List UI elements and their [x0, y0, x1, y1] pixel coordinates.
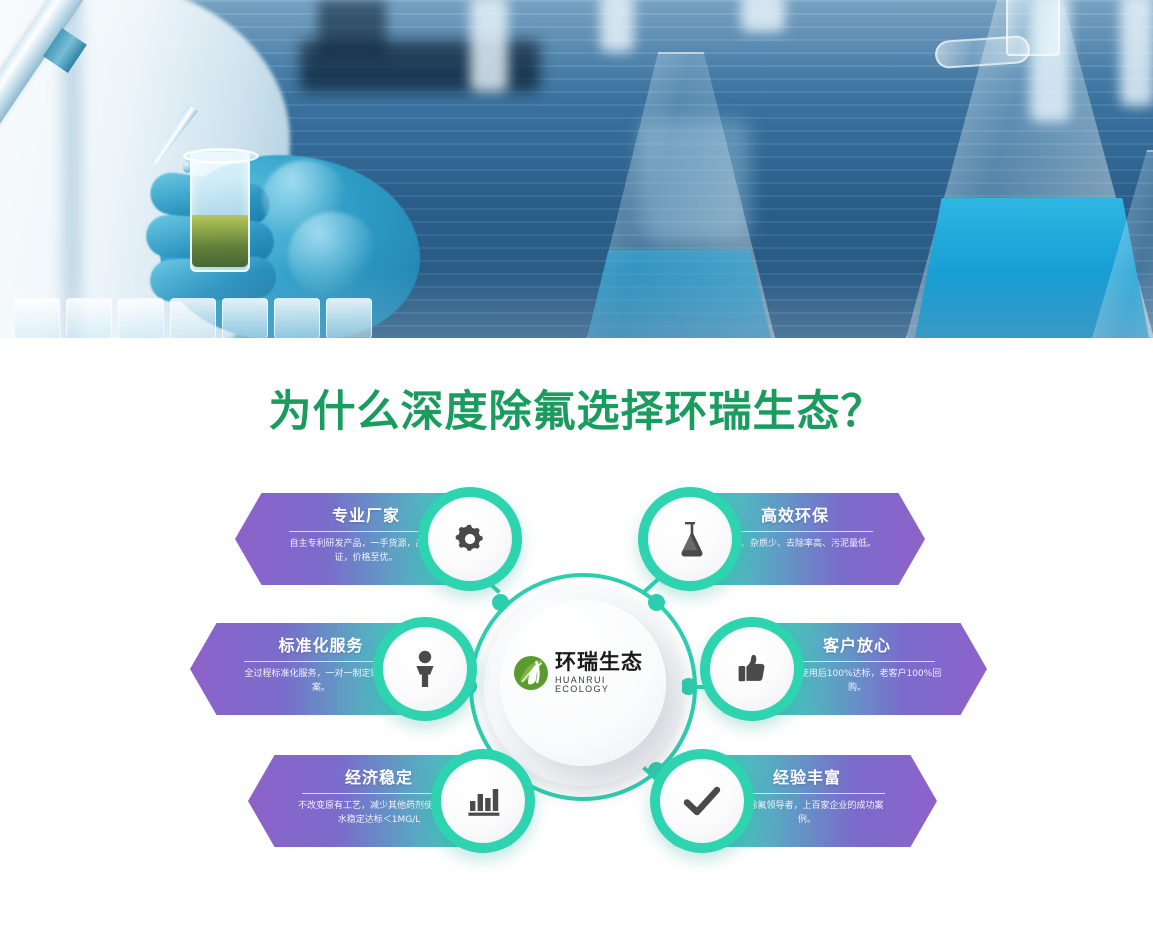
- logo-name-cn: 环瑞生态: [555, 652, 654, 673]
- card-icon-badge: [650, 749, 754, 853]
- gear-icon: [428, 497, 512, 581]
- background-light-panel: [600, 0, 634, 52]
- benefit-card-professional-manufacturer[interactable]: 专业厂家 自主专利研发产品，一手货源，品质保证，价格至优。: [235, 493, 500, 585]
- hero-banner: [0, 0, 1153, 338]
- background-light-panel: [741, 0, 785, 32]
- glove-knuckle: [288, 212, 378, 298]
- person-icon: [383, 627, 467, 711]
- benefit-card-customer-assurance[interactable]: 客户放心 新客户使用后100%达标，老客户100%回购。: [722, 623, 987, 715]
- company-logo: 环瑞生态 HUANRUI ECOLOGY: [512, 645, 654, 701]
- logo-name-en: HUANRUI ECOLOGY: [555, 676, 654, 694]
- benefit-card-rich-experience[interactable]: 经验丰富 深度除氟领导者，上百家企业的成功案例。: [672, 755, 937, 847]
- benefit-card-economic-stability[interactable]: 经济稳定 不改变原有工艺，减少其他药剂使用，出水稳定达标＜1MG/L: [248, 755, 513, 847]
- card-icon-badge: [431, 749, 535, 853]
- leaf-logo-icon: [512, 654, 550, 692]
- ring-node-top-left: [492, 594, 509, 611]
- vial-rim: [183, 148, 259, 164]
- card-icon-badge: [373, 617, 477, 721]
- page-title: 为什么深度除氟选择环瑞生态？: [0, 377, 1153, 439]
- card-icon-badge: [638, 487, 742, 591]
- benefits-diagram: 环瑞生态 HUANRUI ECOLOGY 专业厂家 自主专利研发产品，一手货源，…: [0, 455, 1153, 885]
- ring-node-top-right: [648, 594, 665, 611]
- card-icon-badge: [418, 487, 522, 591]
- benefit-card-standardized-service[interactable]: 标准化服务 全过程标准化服务，一对一制定解决方案。: [190, 623, 455, 715]
- hero-photo: [0, 0, 1153, 338]
- test-tube-rack: [0, 298, 1153, 338]
- bar-chart-icon: [441, 759, 525, 843]
- background-light-panel: [470, 0, 508, 92]
- benefit-card-efficient-eco[interactable]: 高效环保 纯度高、杂质少、去除率高、污泥量低。: [660, 493, 925, 585]
- check-icon: [660, 759, 744, 843]
- vial-green-liquid: [192, 215, 248, 267]
- background-light-panel: [1120, 0, 1153, 106]
- background-shelf-2: [318, 0, 386, 56]
- thumbs-up-icon: [710, 627, 794, 711]
- card-icon-badge: [700, 617, 804, 721]
- flask-icon: [648, 497, 732, 581]
